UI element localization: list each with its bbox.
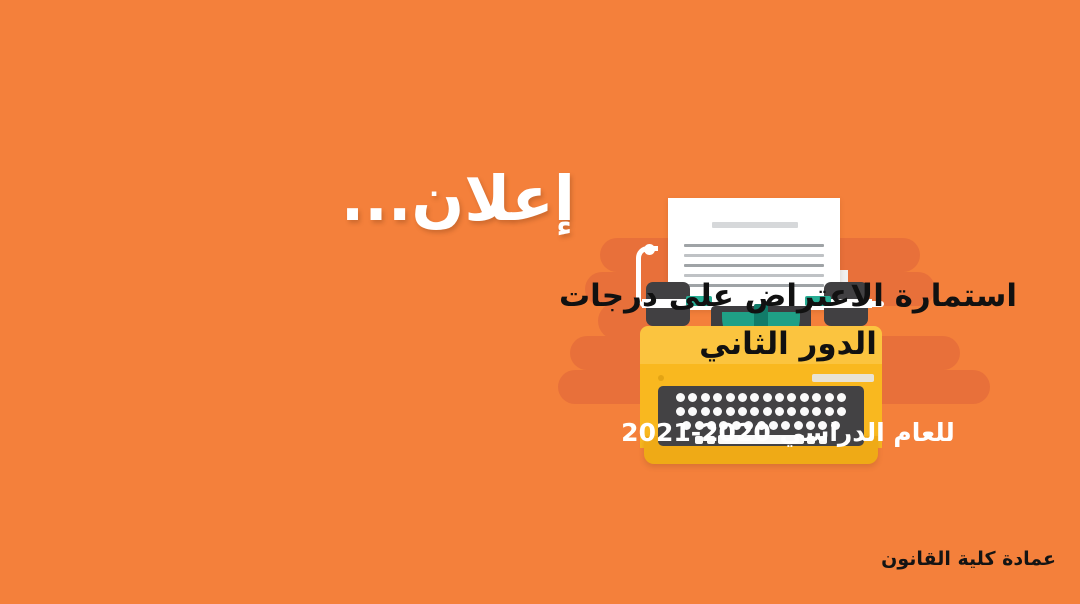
key — [775, 407, 784, 416]
key — [676, 407, 685, 416]
key — [676, 393, 685, 402]
key — [812, 393, 821, 402]
subheading-line-1: استمارة الاعتراض على درجات — [520, 272, 1056, 320]
key — [726, 407, 735, 416]
paper-text-line — [684, 244, 824, 247]
key — [738, 393, 747, 402]
page-title: إعلان... — [341, 168, 575, 230]
key-row — [658, 407, 864, 418]
key — [825, 393, 834, 402]
key — [812, 407, 821, 416]
key — [750, 407, 759, 416]
key — [787, 393, 796, 402]
key — [800, 393, 809, 402]
key — [825, 407, 834, 416]
key — [701, 407, 710, 416]
key — [750, 393, 759, 402]
announcement-slide: إعلان... استمارة الاعتراض على درجات الدو… — [0, 0, 1080, 604]
subheading: استمارة الاعتراض على درجات الدور الثاني — [520, 272, 1056, 368]
body-dot — [658, 375, 664, 381]
paper-guide-strip — [812, 374, 874, 382]
academic-year-label: للعام الدراسي 2020-2021 — [520, 418, 1056, 447]
key-row — [658, 393, 864, 404]
key — [738, 407, 747, 416]
issuer-footer: عمادة كلية القانون — [881, 548, 1056, 570]
lever-knob — [644, 244, 655, 255]
key — [701, 393, 710, 402]
key — [800, 407, 809, 416]
key — [688, 393, 697, 402]
key — [726, 393, 735, 402]
paper-text-line — [684, 254, 824, 257]
key — [688, 407, 697, 416]
key — [775, 393, 784, 402]
paper-title-line — [712, 222, 798, 228]
subheading-line-2: الدور الثاني — [520, 320, 1056, 368]
key — [713, 393, 722, 402]
key — [837, 393, 846, 402]
key — [713, 407, 722, 416]
key — [837, 407, 846, 416]
key — [763, 407, 772, 416]
key — [787, 407, 796, 416]
key — [763, 393, 772, 402]
paper-text-line — [684, 264, 824, 267]
